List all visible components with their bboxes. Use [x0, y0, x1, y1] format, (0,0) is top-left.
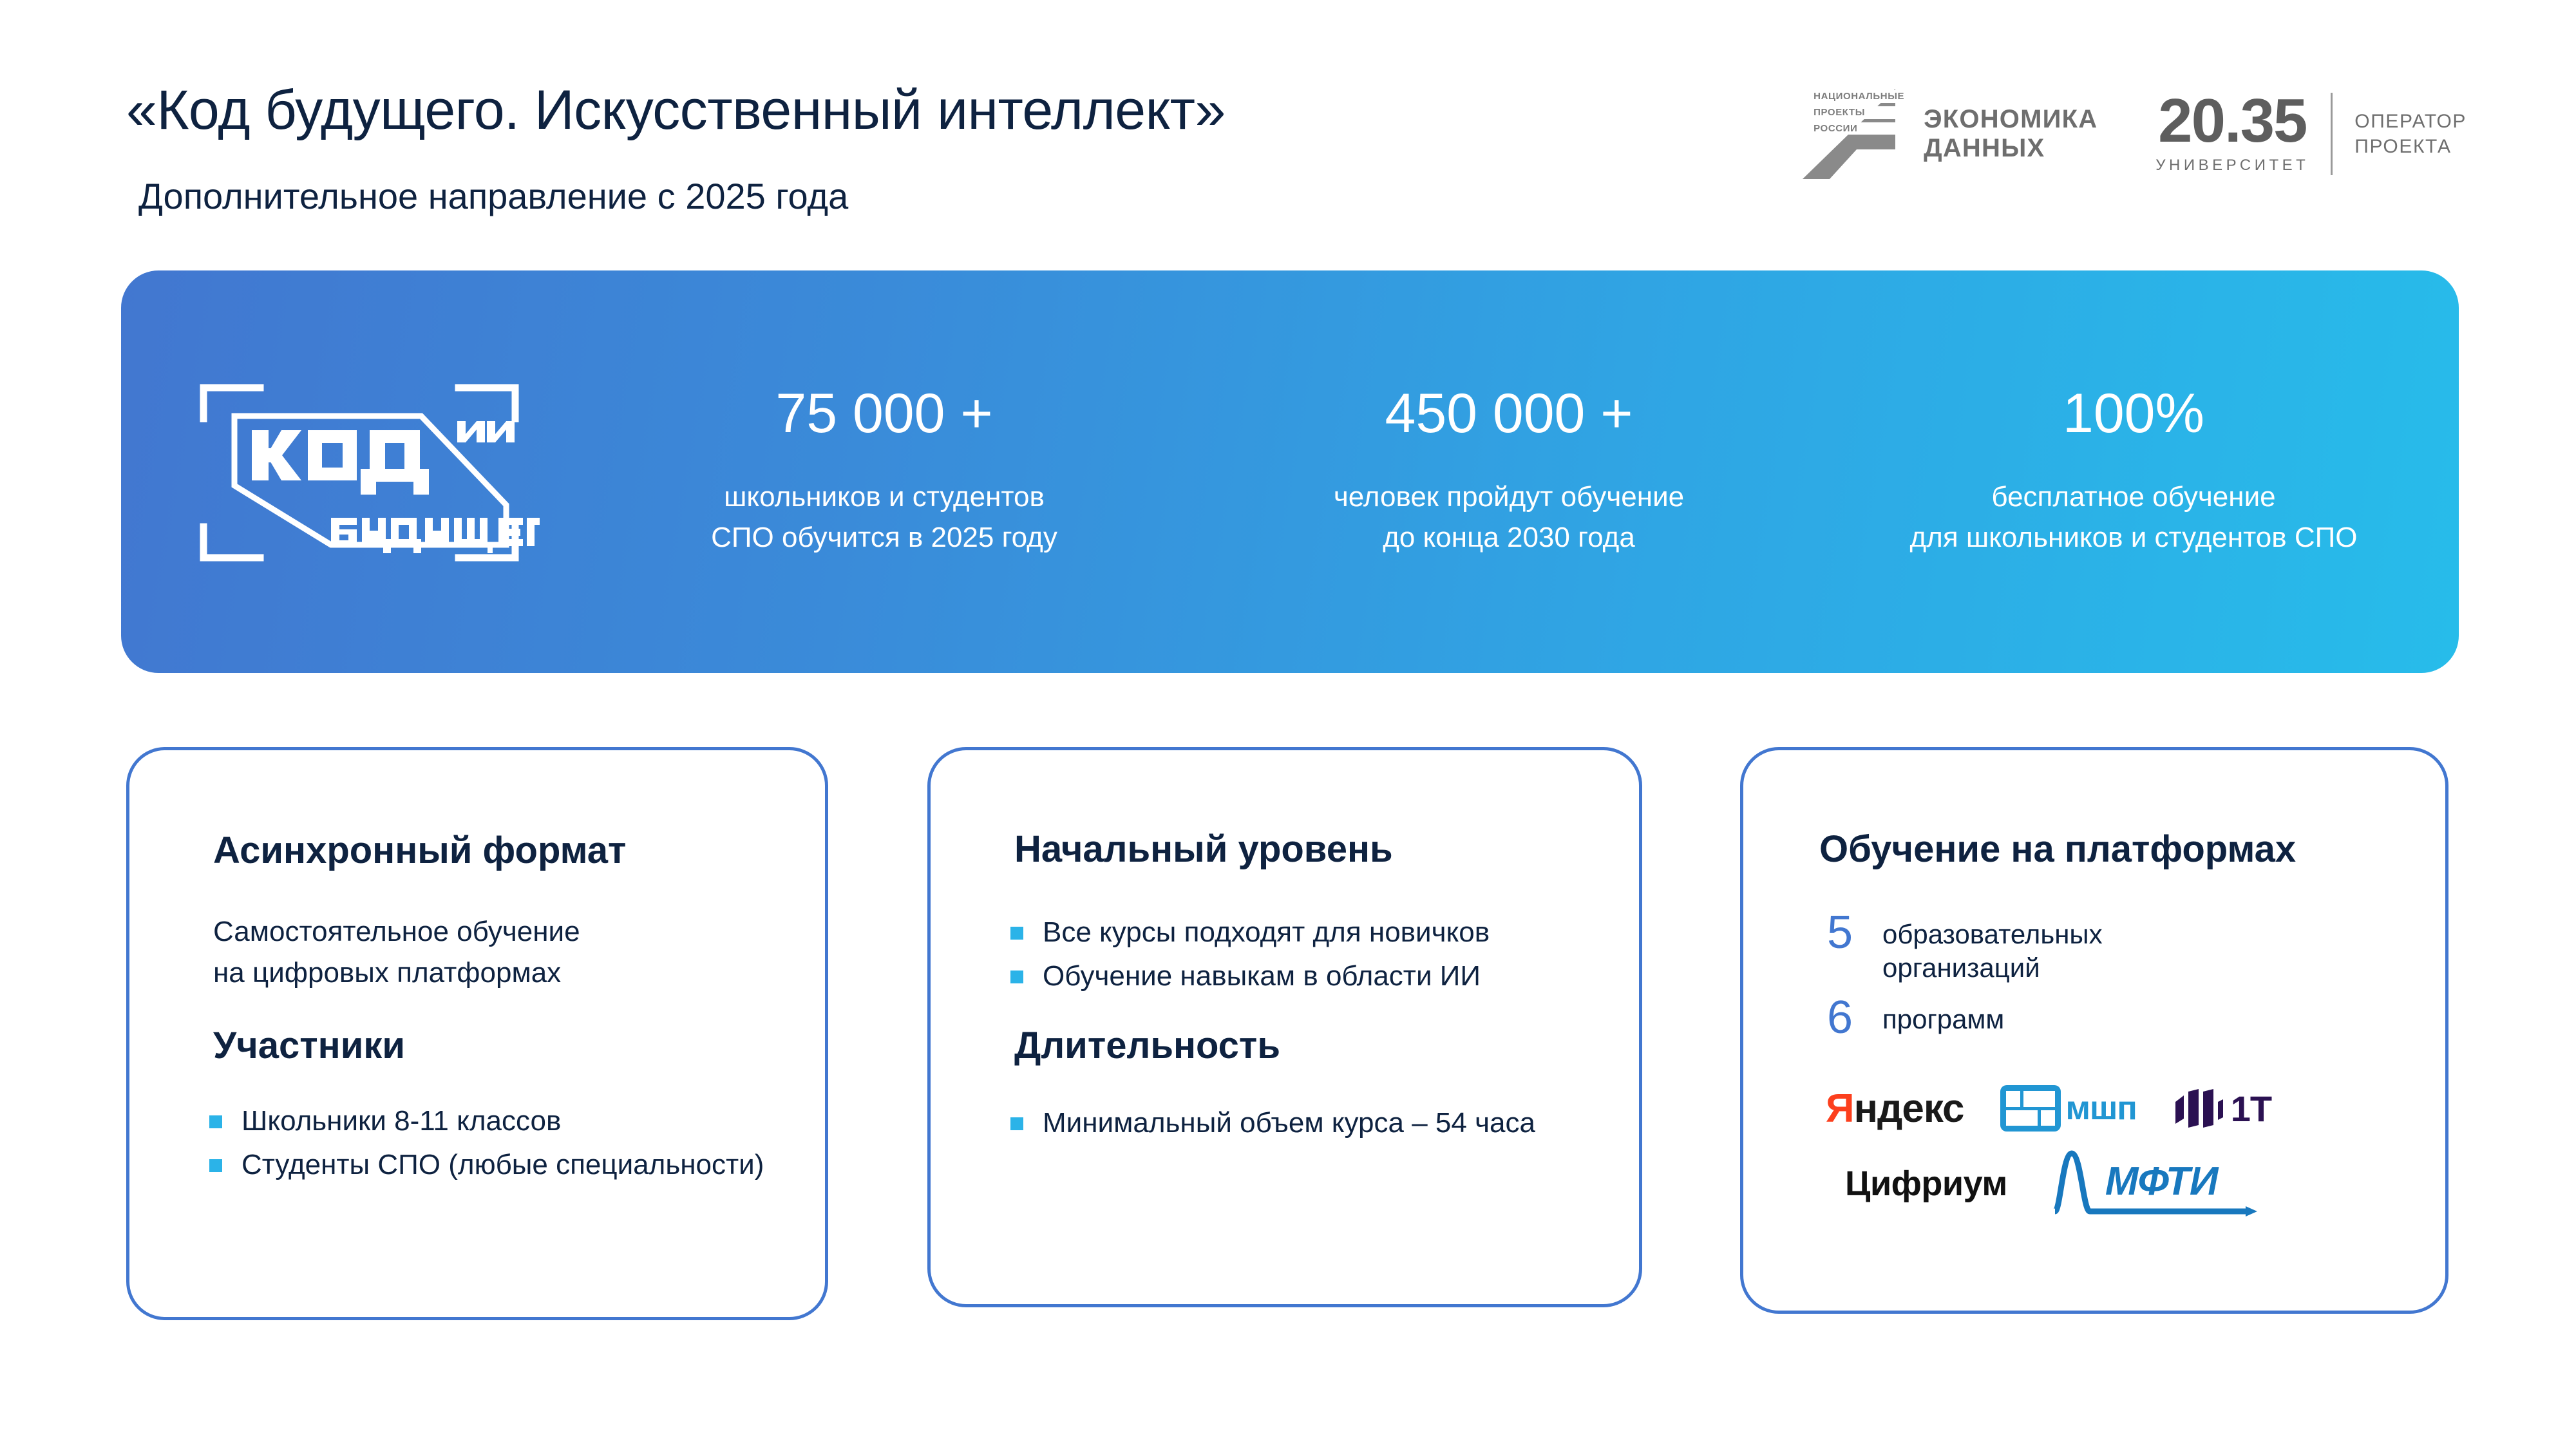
- card2-bullet-list-2: Минимальный объем курса – 54 часа: [1007, 1103, 1586, 1147]
- data-economy-line1: ЭКОНОМИКА: [1924, 105, 2098, 134]
- slide-header: «Код будущего. Искусственный интеллект» …: [0, 0, 2576, 245]
- list-item: Школьники 8-11 классов: [205, 1101, 785, 1141]
- national-projects-wordmark: НАЦИОНАЛЬНЫЕ ПРОЕКТЫ РОССИИ: [1812, 90, 1906, 135]
- logo-mfti: МФТИ: [2046, 1148, 2259, 1219]
- stat-caption-line: школьников и студентов: [572, 477, 1197, 517]
- card2-subtitle: Длительность: [1014, 1024, 1280, 1067]
- stats-group: 75 000 + школьников и студентов СПО обуч…: [572, 270, 2446, 673]
- project-operator-label: ОПЕРАТОР ПРОЕКТА: [2354, 109, 2467, 159]
- logo-divider: [2331, 93, 2333, 175]
- stat-caption-line: до конца 2030 года: [1197, 518, 1821, 558]
- partner-logos: Я ндекс мшп: [1819, 1085, 2425, 1219]
- university-2035-number: 20.35: [2158, 93, 2306, 149]
- university-2035-label: УНИВЕРСИТЕТ: [2155, 156, 2309, 175]
- t1-wordmark: 1Т: [2231, 1088, 2271, 1130]
- stat-caption: школьников и студентов СПО обучится в 20…: [572, 477, 1197, 558]
- mshp-wordmark: мшп: [2066, 1089, 2137, 1128]
- data-economy-title: ЭКОНОМИКА ДАННЫХ: [1924, 105, 2098, 163]
- logo-1t: 1Т: [2173, 1088, 2271, 1130]
- partner-row-1: Я ндекс мшп: [1819, 1085, 2425, 1132]
- operator-line1: ОПЕРАТОР: [2354, 109, 2467, 134]
- card1-paragraph: Самостоятельное обучение на цифровых пла…: [213, 911, 580, 994]
- metric-number: 6: [1827, 996, 1882, 1039]
- page-title: «Код будущего. Искусственный интеллект»: [126, 79, 1226, 142]
- stat-item: 100% бесплатное обучение для школьников …: [1821, 386, 2446, 558]
- yandex-accent-letter: Я: [1826, 1086, 1854, 1132]
- card1-paragraph-line2: на цифровых платформах: [213, 952, 580, 994]
- list-item: Минимальный объем курса – 54 часа: [1007, 1103, 1586, 1143]
- metric-label-line1: программ: [1882, 1003, 2004, 1036]
- list-item: Все курсы подходят для новичков: [1007, 913, 1625, 952]
- mfti-wordmark: МФТИ: [2105, 1159, 2218, 1204]
- stat-caption-line: СПО обучится в 2025 году: [572, 518, 1197, 558]
- card3-metrics: 5 образовательных организаций 6 программ: [1827, 911, 2407, 1050]
- logo-mshp: мшп: [2000, 1085, 2137, 1132]
- stat-item: 450 000 + человек пройдут обучение до ко…: [1197, 386, 1821, 558]
- t1-mark-icon: [2173, 1088, 2223, 1129]
- card-beginner-level: Начальный уровень Все курсы подходят для…: [927, 747, 1642, 1307]
- stat-caption: бесплатное обучение для школьников и сту…: [1821, 477, 2446, 558]
- stat-caption-line: бесплатное обучение: [1821, 477, 2446, 517]
- metric-label-line1: образовательных: [1882, 918, 2103, 951]
- metric-number: 5: [1827, 911, 1882, 954]
- card1-paragraph-line1: Самостоятельное обучение: [213, 911, 580, 952]
- logo-cifrium: Цифриум: [1845, 1164, 2007, 1204]
- metric-row: 6 программ: [1827, 996, 2407, 1039]
- partner-row-2: Цифриум МФТИ: [1819, 1148, 2425, 1219]
- metric-label: программ: [1882, 996, 2004, 1036]
- page-subtitle: Дополнительное направление с 2025 года: [138, 175, 848, 217]
- list-item: Обучение навыкам в области ИИ: [1007, 956, 1625, 996]
- stat-caption-line: человек пройдут обучение: [1197, 477, 1821, 517]
- data-economy-line2: ДАННЫХ: [1924, 134, 2098, 163]
- card1-subtitle: Участники: [213, 1024, 405, 1067]
- np-word-1: НАЦИОНАЛЬНЫЕ: [1812, 90, 1906, 103]
- stat-caption-line: для школьников и студентов СПО: [1821, 518, 2446, 558]
- university-2035-block: 20.35 УНИВЕРСИТЕТ: [2155, 93, 2309, 175]
- logo-yandex: Я ндекс: [1826, 1086, 1964, 1132]
- stat-number: 75 000 +: [572, 386, 1197, 441]
- card2-title: Начальный уровень: [1014, 828, 1393, 871]
- national-projects-mark-icon: НАЦИОНАЛЬНЫЕ ПРОЕКТЫ РОССИИ: [1797, 82, 1907, 185]
- mshp-cell: [2023, 1091, 2055, 1107]
- stat-item: 75 000 + школьников и студентов СПО обуч…: [572, 386, 1197, 558]
- stat-number: 100%: [1821, 386, 2446, 441]
- stats-banner: 75 000 + школьников и студентов СПО обуч…: [121, 270, 2459, 673]
- operator-line2: ПРОЕКТА: [2354, 134, 2467, 159]
- card1-title: Асинхронный формат: [213, 829, 626, 872]
- card-learning-platforms: Обучение на платформах 5 образовательных…: [1740, 747, 2448, 1314]
- stat-caption: человек пройдут обучение до конца 2030 г…: [1197, 477, 1821, 558]
- list-item: Студенты СПО (любые специальности): [205, 1145, 785, 1185]
- card2-bullet-list: Все курсы подходят для новичков Обучение…: [1007, 913, 1625, 1001]
- metric-label: образовательных организаций: [1882, 911, 2103, 985]
- card3-title: Обучение на платформах: [1819, 828, 2296, 871]
- kod-budushchego-logo: [179, 366, 540, 578]
- logo-national-projects: НАЦИОНАЛЬНЫЕ ПРОЕКТЫ РОССИИ ЭКОНОМИКА ДА…: [1797, 82, 2098, 185]
- mshp-cell: [2006, 1110, 2038, 1126]
- metric-row: 5 образовательных организаций: [1827, 911, 2407, 985]
- yandex-wordmark: ндекс: [1854, 1086, 1964, 1132]
- stat-number: 450 000 +: [1197, 386, 1821, 441]
- card-asynchronous-format: Асинхронный формат Самостоятельное обуче…: [126, 747, 828, 1320]
- mshp-cell: [2006, 1091, 2020, 1107]
- metric-label-line2: организаций: [1882, 951, 2103, 985]
- mshp-mark-icon: [2000, 1085, 2061, 1132]
- np-word-3: РОССИИ: [1812, 122, 1906, 135]
- np-word-2: ПРОЕКТЫ: [1812, 106, 1906, 119]
- slide-root: «Код будущего. Искусственный интеллект» …: [0, 0, 2576, 1449]
- header-logo-group: НАЦИОНАЛЬНЫЕ ПРОЕКТЫ РОССИИ ЭКОНОМИКА ДА…: [1797, 82, 2467, 185]
- logo-university-2035: 20.35 УНИВЕРСИТЕТ ОПЕРАТОР ПРОЕКТА: [2155, 93, 2467, 175]
- mshp-cell: [2041, 1110, 2055, 1126]
- card1-bullet-list: Школьники 8-11 классов Студенты СПО (люб…: [205, 1101, 785, 1189]
